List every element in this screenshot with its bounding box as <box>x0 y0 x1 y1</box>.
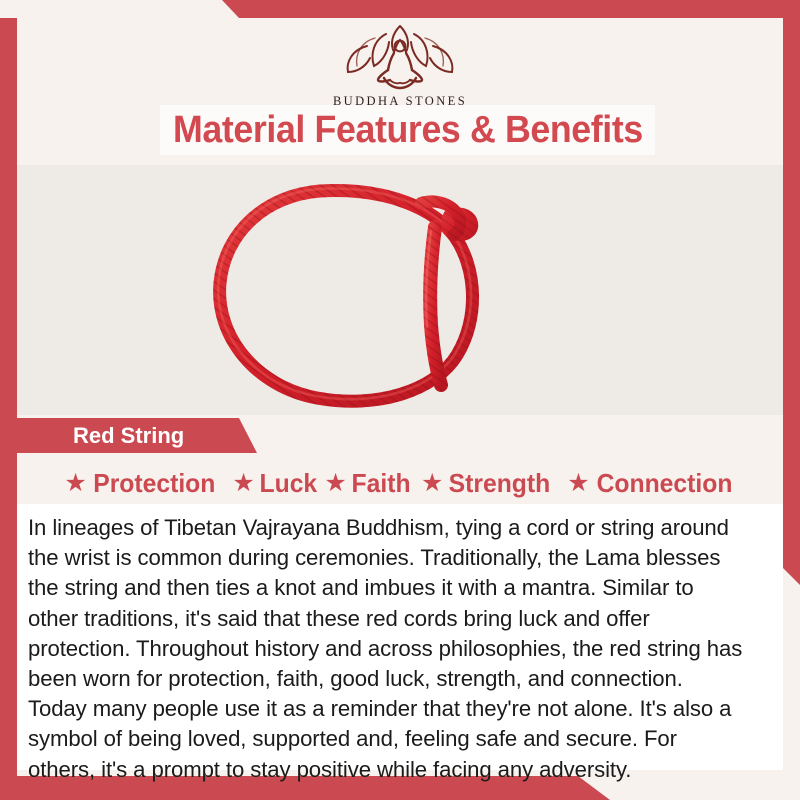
description-card: In lineages of Tibetan Vajrayana Buddhis… <box>17 504 783 770</box>
star-icon: ★ <box>324 471 346 496</box>
star-icon: ★ <box>232 471 254 496</box>
left-red-strip <box>0 18 17 800</box>
feature-label: Faith <box>351 468 410 499</box>
section-banner-red-string: Red String <box>17 418 257 453</box>
feature-item-connection: ★ Connection <box>567 468 735 499</box>
feature-item-faith: ★ Faith <box>324 468 412 499</box>
title-banner: Material Features & Benefits <box>160 105 655 155</box>
red-string-bracelet-illustration <box>17 165 783 415</box>
page-title: Material Features & Benefits <box>173 109 643 152</box>
section-banner-label: Red String <box>73 423 184 449</box>
feature-label: Connection <box>596 468 732 499</box>
feature-item-protection: ★ Protection <box>64 468 218 499</box>
product-photo <box>17 165 783 415</box>
top-red-band <box>0 0 800 18</box>
feature-label: Luck <box>259 468 317 499</box>
right-red-strip <box>783 0 800 585</box>
infographic-page: BUDDHA STONES Material Features & Benefi… <box>0 0 800 800</box>
lotus-meditation-figure-icon <box>334 20 466 92</box>
description-paragraph: In lineages of Tibetan Vajrayana Buddhis… <box>28 513 744 785</box>
star-icon: ★ <box>567 471 589 496</box>
star-icon: ★ <box>421 471 443 496</box>
feature-label: Strength <box>449 468 551 499</box>
feature-item-luck: ★ Luck <box>232 468 318 499</box>
brand-logo: BUDDHA STONES <box>17 20 783 109</box>
star-icon: ★ <box>64 471 86 496</box>
header: BUDDHA STONES Material Features & Benefi… <box>17 18 783 165</box>
feature-item-strength: ★ Strength <box>421 468 553 499</box>
feature-list: ★ Protection ★ Luck ★ Faith ★ Strength ★… <box>17 464 783 502</box>
feature-label: Protection <box>93 468 215 499</box>
